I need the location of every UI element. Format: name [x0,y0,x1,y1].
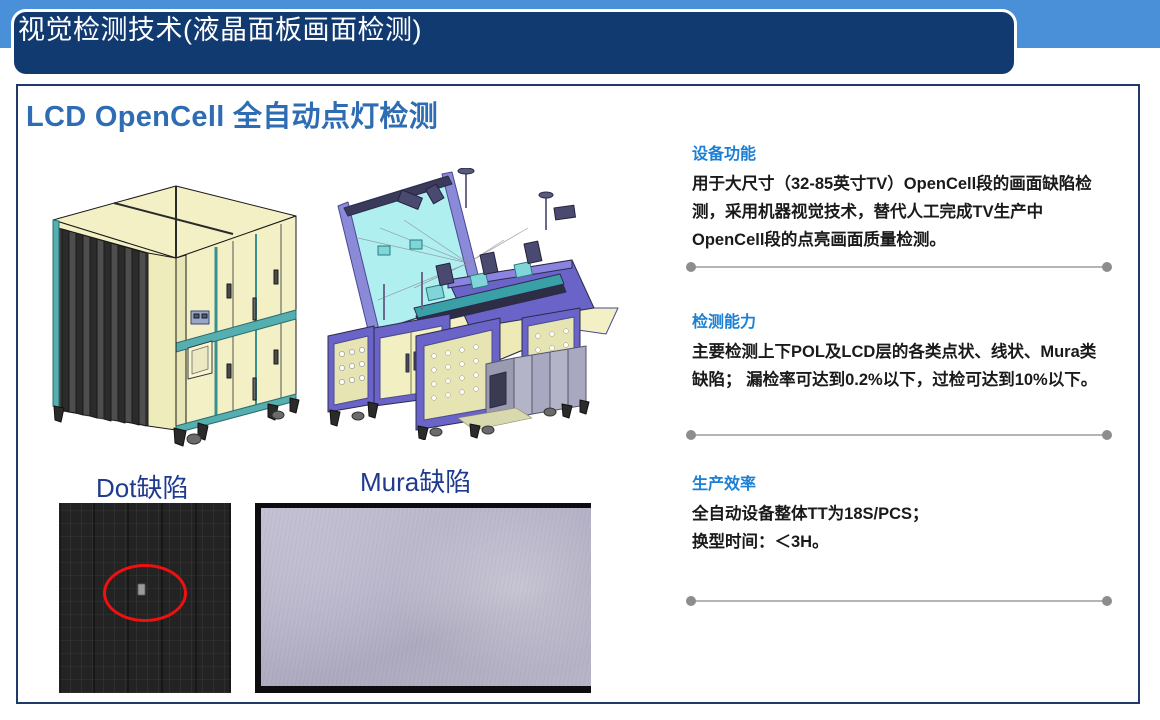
info-heading-efficiency: 生产效率 [692,470,1112,494]
bench-svg [318,168,636,440]
info-heading-capability: 检测能力 [692,308,1112,332]
divider-dot-left [686,262,696,272]
info-body-function: 用于大尺寸（32-85英寸TV）OpenCell段的画面缺陷检测，采用机器视觉技… [692,170,1112,254]
divider-line [694,434,1104,436]
mura-defect-image [255,503,591,693]
defect-highlight-ellipse [103,564,187,622]
mura-panel-surface [261,508,591,686]
bench-illustration [318,168,636,440]
dot-defect-image [59,503,231,693]
mura-defect-label: Mura缺陷 [360,462,471,499]
divider-dot-right [1102,262,1112,272]
info-block-capability: 检测能力 主要检测上下POL及LCD层的各类点状、线状、Mura类缺陷； 漏检率… [686,308,1112,394]
slide-title: LCD OpenCell 全自动点灯检测 [26,93,438,135]
divider-dot-right [1102,596,1112,606]
info-body-efficiency: 全自动设备整体TT为18S/PCS； 换型时间：＜3H。 [692,500,1112,556]
divider-line [694,600,1104,602]
info-heading-function: 设备功能 [692,140,1112,164]
divider-3 [686,596,1112,606]
divider-1 [686,262,1112,272]
divider-dot-left [686,596,696,606]
cabinet-svg [28,158,320,448]
info-body-capability: 主要检测上下POL及LCD层的各类点状、线状、Mura类缺陷； 漏检率可达到0.… [692,338,1112,394]
divider-line [694,266,1104,268]
cabinet-illustration [28,158,320,448]
info-block-function: 设备功能 用于大尺寸（32-85英寸TV）OpenCell段的画面缺陷检测，采用… [686,140,1112,254]
divider-dot-right [1102,430,1112,440]
divider-dot-left [686,430,696,440]
page-title: 视觉检测技术(液晶面板画面检测) [18,13,422,47]
divider-2 [686,430,1112,440]
dot-defect-label: Dot缺陷 [96,468,188,505]
info-block-efficiency: 生产效率 全自动设备整体TT为18S/PCS； 换型时间：＜3H。 [686,470,1112,556]
